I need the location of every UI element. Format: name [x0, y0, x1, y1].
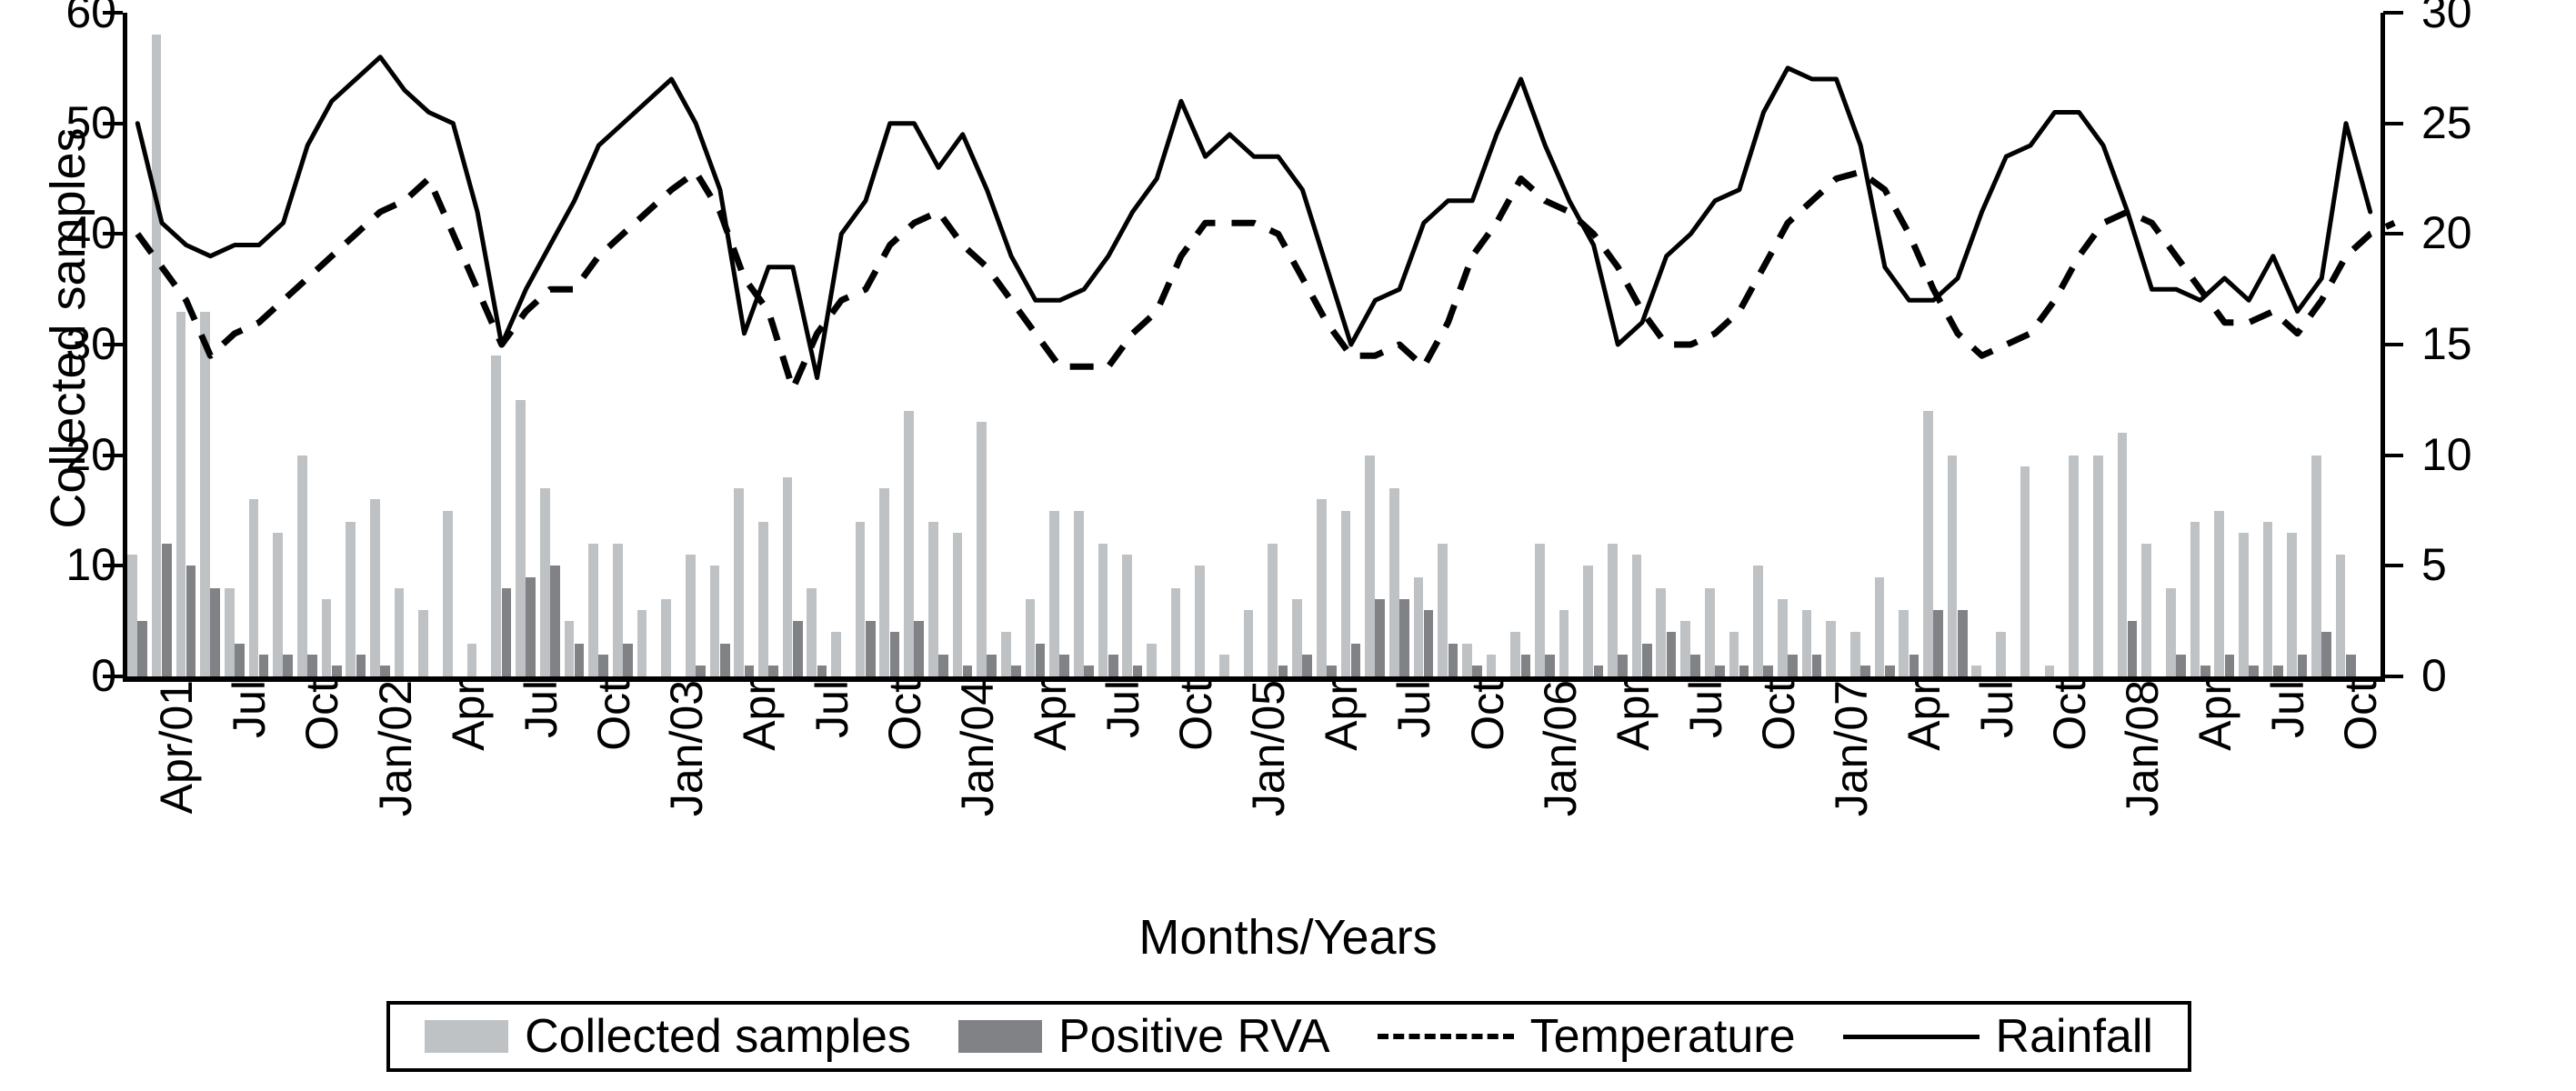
y-axis-left-tick-label: 60	[0, 0, 116, 35]
y-axis-right-tick-label: 0	[2421, 653, 2576, 698]
x-axis-tick-label: Apr	[1027, 680, 1073, 751]
plot-inner: 0102030405060 051015202530	[125, 13, 2382, 676]
y-axis-left-tick-label: 30	[0, 321, 116, 366]
y-axis-right-tick	[2383, 11, 2403, 15]
x-axis-tick-label: Jan/06	[1538, 680, 1583, 816]
x-axis-tick-label: Oct	[1756, 680, 1801, 751]
y-axis-right-tick-label: 20	[2421, 210, 2576, 255]
y-axis-right-tick	[2383, 675, 2403, 678]
x-axis-tick-label: Jan/05	[1246, 680, 1291, 816]
y-axis-left-line	[123, 13, 127, 679]
y-axis-right-tick	[2383, 343, 2403, 346]
x-axis-tick-label: Oct	[1173, 680, 1218, 751]
chart-root: Collected samples Temperature/rainfall M…	[0, 0, 2576, 1091]
x-axis-tick-label: Oct	[1465, 680, 1510, 751]
x-axis-tick-label: Jul	[1974, 680, 2020, 738]
y-axis-right-tick-label: 25	[2421, 100, 2576, 145]
y-axis-right-tick	[2383, 122, 2403, 125]
x-axis-tick-label: Jul	[809, 680, 855, 738]
legend-item: Temperature	[1378, 1013, 1796, 1060]
x-axis-tick-label: Oct	[299, 680, 345, 751]
y-axis-left-tick-label: 20	[0, 432, 116, 477]
legend-label: Temperature	[1530, 1013, 1796, 1060]
x-axis-tick-label: Apr	[1610, 680, 1656, 751]
y-axis-right-tick-label: 10	[2421, 432, 2576, 477]
legend-label: Collected samples	[525, 1013, 911, 1060]
legend-item: Rainfall	[1843, 1013, 2153, 1060]
x-axis-tick-labels: Apr/01JulOctJan/02AprJulOctJan/03AprJulO…	[125, 680, 2382, 907]
x-axis-tick-label: Jul	[2265, 680, 2310, 738]
x-axis-tick-label: Jan/08	[2120, 680, 2165, 816]
x-axis-tick-label: Jan/03	[664, 680, 709, 816]
x-axis-tick-label: Oct	[2338, 680, 2383, 751]
legend-label: Positive RVA	[1058, 1013, 1330, 1060]
x-axis-tick-label: Oct	[882, 680, 927, 751]
y-axis-right-tick-label: 15	[2421, 321, 2576, 366]
x-axis-tick-label: Jul	[518, 680, 564, 738]
x-axis-tick-label: Apr	[1901, 680, 1947, 751]
rainfall-line	[137, 57, 2370, 378]
x-axis-tick-label: Jan/07	[1829, 680, 1874, 816]
y-axis-right-tick-label: 5	[2421, 542, 2576, 587]
legend-line-temperature	[1378, 1034, 1514, 1039]
legend-line-rainfall	[1843, 1035, 1980, 1039]
x-axis-title: Months/Years	[0, 909, 2576, 966]
y-axis-right-tick-label: 30	[2421, 0, 2576, 35]
legend-item: Positive RVA	[958, 1013, 1330, 1060]
x-axis-tick-label: Jan/02	[373, 680, 418, 816]
x-axis-tick-label: Apr	[2192, 680, 2238, 751]
lines-layer	[125, 13, 2382, 676]
x-axis-tick-label: Jul	[1683, 680, 1729, 738]
x-axis-tick-label: Oct	[591, 680, 636, 751]
legend-item: Collected samples	[425, 1013, 911, 1060]
x-axis-tick-label: Jul	[1391, 680, 1437, 738]
y-axis-left-tick-label: 50	[0, 100, 116, 145]
x-axis-tick-label: Apr	[446, 680, 491, 751]
chart-legend: Collected samplesPositive RVATemperature…	[386, 1001, 2191, 1072]
y-axis-left-tick-label: 10	[0, 542, 116, 587]
legend-label: Rainfall	[1996, 1013, 2153, 1060]
x-axis-tick-label: Oct	[2047, 680, 2092, 751]
x-axis-tick-label: Jul	[1100, 680, 1146, 738]
legend-swatch-positive-rva	[958, 1020, 1042, 1053]
y-axis-left-tick-label: 0	[0, 653, 116, 698]
y-axis-right-tick	[2383, 564, 2403, 567]
legend-swatch-collected-samples	[425, 1020, 508, 1053]
x-axis-tick-label: Apr	[1318, 680, 1364, 751]
x-axis-tick-label: Apr/01	[154, 680, 199, 814]
y-axis-right-tick	[2383, 232, 2403, 235]
x-axis-tick-label: Apr	[737, 680, 782, 751]
plot-area: 0102030405060 051015202530	[125, 13, 2382, 676]
y-axis-left-tick-label: 40	[0, 210, 116, 255]
x-axis-tick-label: Jul	[226, 680, 272, 738]
x-axis-tick-label: Jan/04	[955, 680, 1000, 816]
y-axis-right-tick	[2383, 454, 2403, 457]
